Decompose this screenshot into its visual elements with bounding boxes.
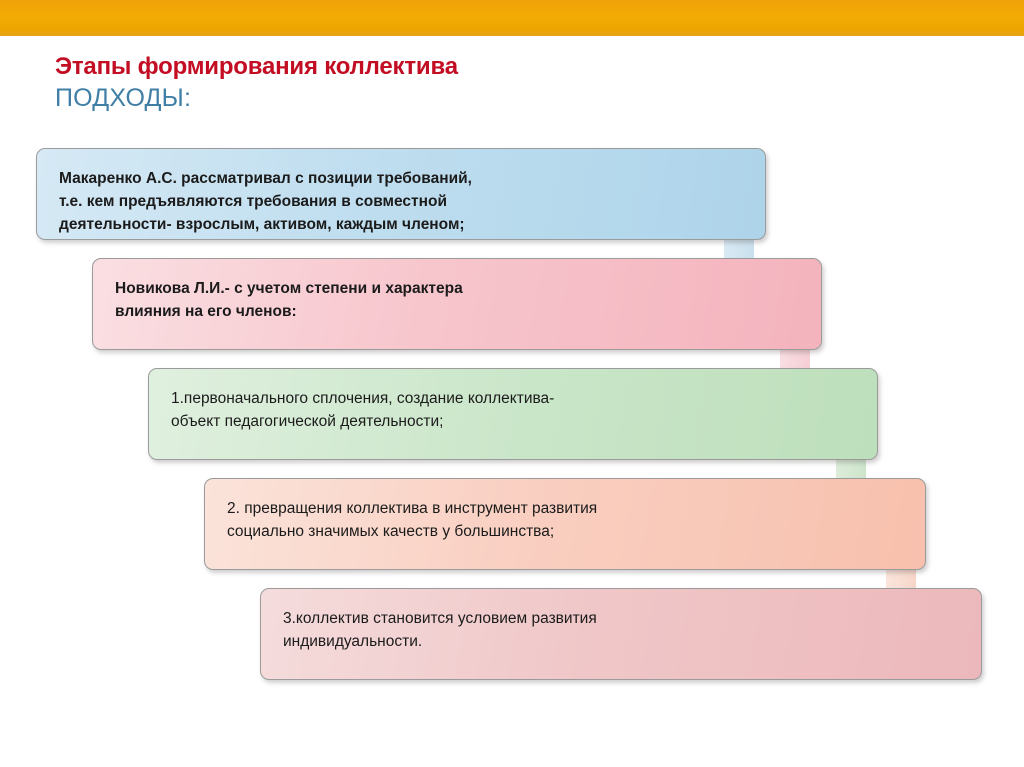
step-box-5: 3.коллектив становится условием развития… [260, 588, 982, 680]
page-title: Этапы формирования коллектива [55, 52, 855, 82]
page-subtitle: ПОДХОДЫ: [55, 82, 855, 114]
step-box-3-text: 1.первоначального сплочения, создание ко… [171, 387, 857, 433]
step-box-1-text: Макаренко А.С. рассматривал с позиции тр… [59, 167, 745, 236]
step-box-4: 2. превращения коллектива в инструмент р… [204, 478, 926, 570]
step-box-1: Макаренко А.С. рассматривал с позиции тр… [36, 148, 766, 240]
slide-canvas: Этапы формирования коллектива ПОДХОДЫ: [0, 0, 1024, 767]
step-box-2: Новикова Л.И.- с учетом степени и характ… [92, 258, 822, 350]
title-block: Этапы формирования коллектива ПОДХОДЫ: [55, 52, 855, 114]
step-box-5-text: 3.коллектив становится условием развития… [283, 607, 961, 653]
top-accent-bar [0, 0, 1024, 36]
step-box-2-text: Новикова Л.И.- с учетом степени и характ… [115, 277, 801, 323]
step-box-4-text: 2. превращения коллектива в инструмент р… [227, 497, 905, 543]
step-box-3: 1.первоначального сплочения, создание ко… [148, 368, 878, 460]
